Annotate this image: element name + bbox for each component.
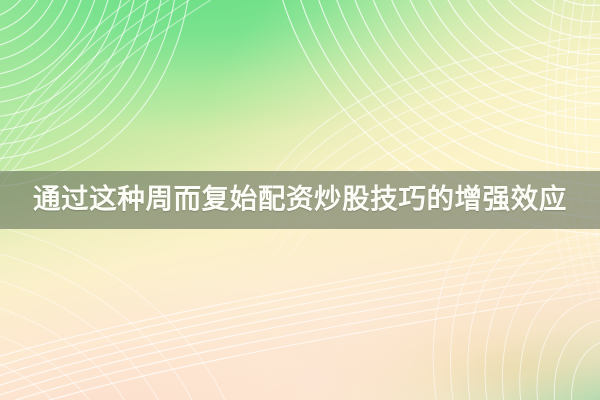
banner-caption-text: 通过这种周而复始配资炒股技巧的增强效应 [33, 186, 567, 214]
ripple-family-bottom-right [352, 103, 600, 400]
ripple-family-mid-right [258, 34, 600, 270]
ripple-family-bottom [0, 232, 600, 400]
banner-image: 通过这种周而复始配资炒股技巧的增强效应 [0, 0, 600, 400]
caption-band: 通过这种周而复始配资炒股技巧的增强效应 [0, 171, 600, 229]
ripple-family-top-right [176, 0, 600, 334]
